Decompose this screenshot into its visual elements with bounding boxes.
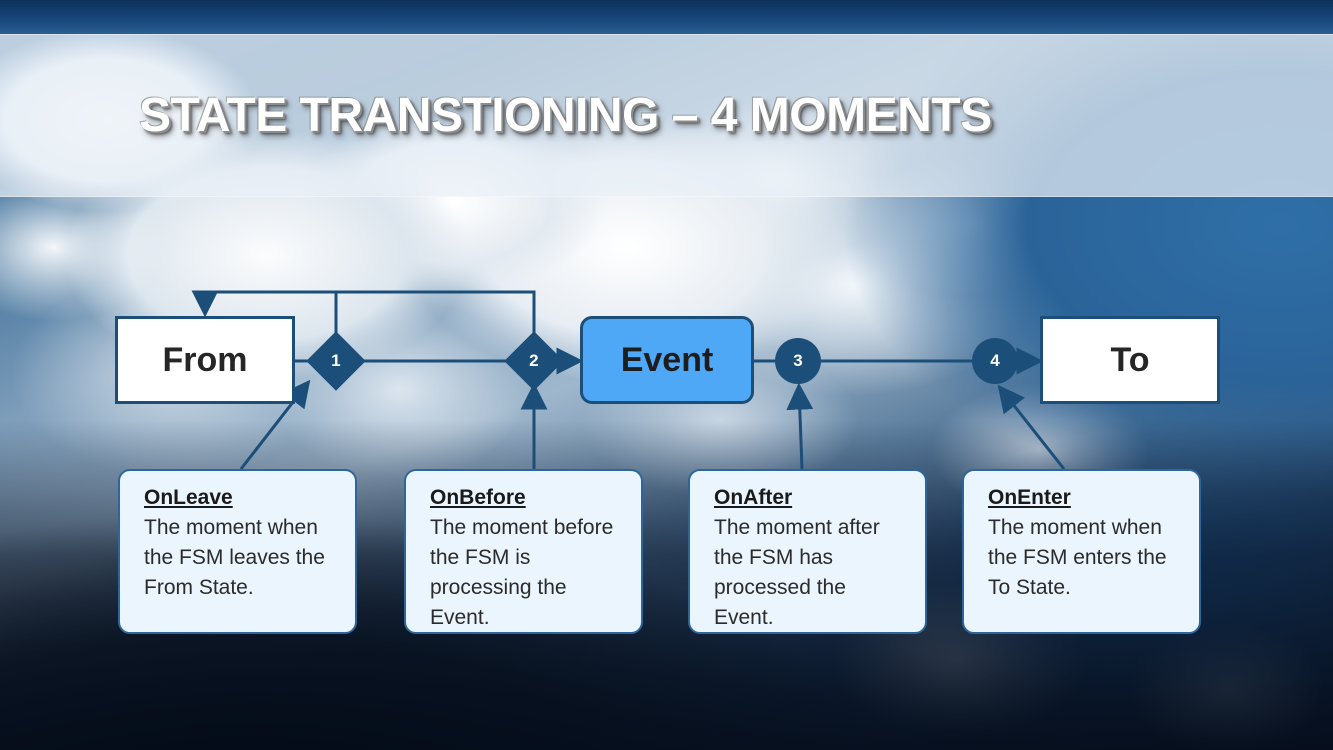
callout-onleave[interactable]: OnLeave The moment when the FSM leaves t… <box>118 469 357 634</box>
callout-onleave-body: The moment when the FSM leaves the From … <box>144 513 339 603</box>
state-node-from-label: From <box>163 341 248 380</box>
state-node-event[interactable]: Event <box>580 316 754 404</box>
callout-onenter[interactable]: OnEnter The moment when the FSM enters t… <box>962 469 1201 634</box>
moment-marker-4-label: 4 <box>990 351 999 371</box>
callout-onleave-title: OnLeave <box>144 485 339 511</box>
leader-onafter <box>799 388 802 469</box>
callout-onafter-body: The moment after the FSM has processed t… <box>714 513 909 633</box>
moment-marker-3[interactable]: 3 <box>775 338 821 384</box>
state-node-event-label: Event <box>621 341 714 380</box>
moment-marker-4[interactable]: 4 <box>972 338 1018 384</box>
callout-onbefore[interactable]: OnBefore The moment before the FSM is pr… <box>404 469 643 634</box>
callout-onafter-title: OnAfter <box>714 485 909 511</box>
state-node-from[interactable]: From <box>115 316 295 404</box>
callout-onbefore-body: The moment before the FSM is processing … <box>430 513 625 633</box>
callout-onenter-body: The moment when the FSM enters the To St… <box>988 513 1183 603</box>
callout-onenter-title: OnEnter <box>988 485 1183 511</box>
callout-onafter[interactable]: OnAfter The moment after the FSM has pro… <box>688 469 927 634</box>
moment-marker-2-label: 2 <box>529 351 538 371</box>
slide-canvas: STATE TRANSTIONING – 4 MOMENTS <box>0 0 1333 750</box>
callout-onbefore-title: OnBefore <box>430 485 625 511</box>
moment-marker-1-label: 1 <box>331 351 340 371</box>
state-node-to[interactable]: To <box>1040 316 1220 404</box>
state-node-to-label: To <box>1110 341 1149 380</box>
moment-marker-3-label: 3 <box>793 351 802 371</box>
state-transition-diagram: From Event To 1 2 3 4 OnLeave The moment… <box>0 0 1333 750</box>
